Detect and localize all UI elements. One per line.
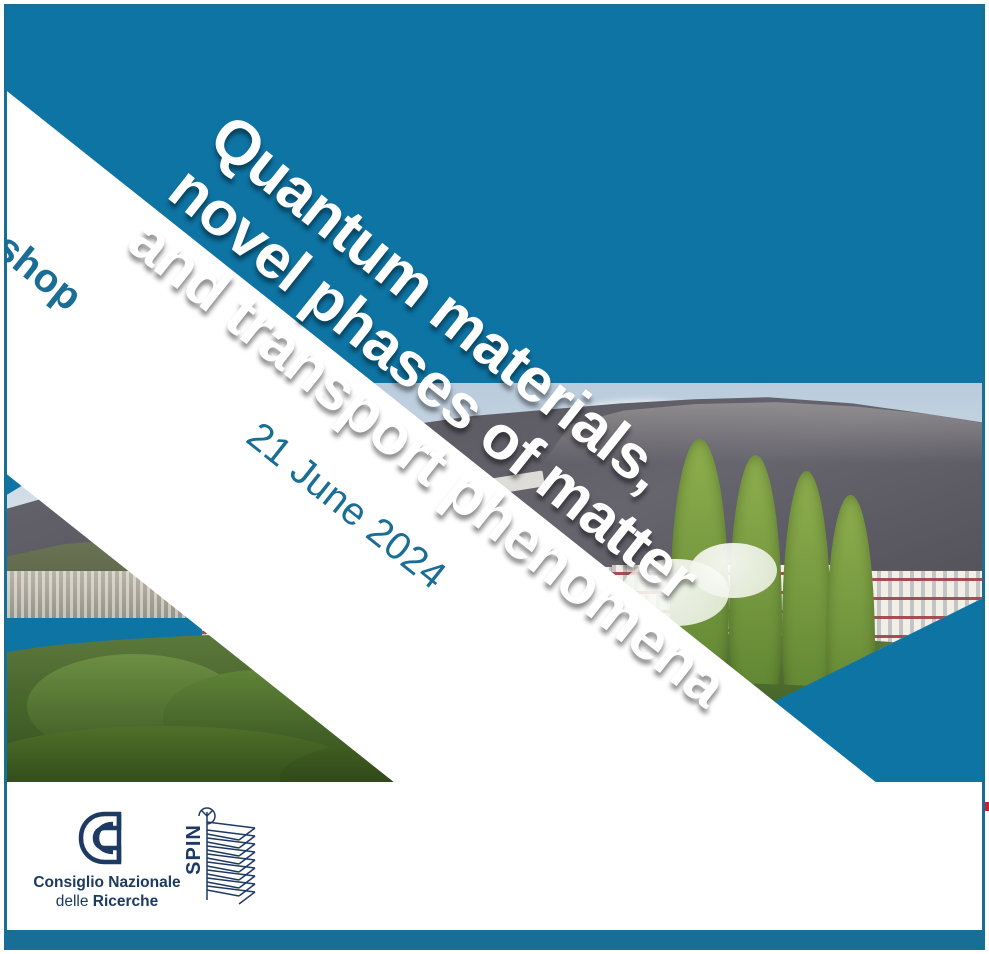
cnr-label-line1: Consiglio Nazionale: [27, 874, 187, 893]
spin-logo: SPIN: [185, 804, 263, 909]
workshop-kicker-line1: International Workshop: [7, 7, 90, 320]
workshop-poster: unisa.it: [0, 0, 989, 954]
cnr-label-ricerche: Ricerche: [93, 893, 158, 910]
spin-label: SPIN: [183, 824, 206, 875]
cnr-logo: Consiglio Nazionale delle Ricerche: [27, 810, 187, 912]
poster-footer: Consiglio Nazionale delle Ricerche: [7, 782, 982, 930]
footer-accent-bar: [7, 930, 982, 947]
cnr-label-line2: delle Ricerche: [27, 893, 187, 912]
cnr-monogram-icon: [75, 810, 139, 868]
poster-hero: unisa.it: [7, 7, 982, 782]
cnr-label-delle: delle: [56, 893, 93, 910]
